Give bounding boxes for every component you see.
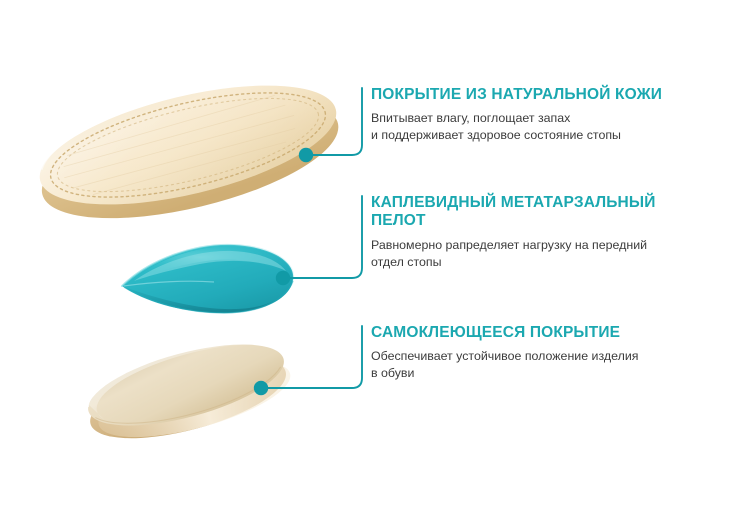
connector-dot-1: [299, 148, 313, 162]
callout-body: Обеспечивает устойчивое положение издели…: [371, 348, 701, 382]
callout-title: ПОКРЫТИЕ ИЗ НАТУРАЛЬНОЙ КОЖИ: [371, 86, 701, 104]
connector-dot-2: [276, 271, 290, 285]
connector-dot-3: [254, 381, 268, 395]
callout-self-adhesive-backing: САМОКЛЕЮЩЕЕСЯ ПОКРЫТИЕ Обеспечивает усто…: [371, 324, 701, 383]
callout-title: КАПЛЕВИДНЫЙ МЕТАТАРЗАЛЬНЫЙ ПЕЛОТ: [371, 194, 701, 231]
callout-body: Впитывает влагу, поглощает запах и подде…: [371, 110, 701, 144]
metatarsal-pad-layer: [122, 245, 293, 313]
callout-body: Равномерно рапределяет нагрузку на перед…: [371, 237, 701, 271]
connector-2: [283, 196, 362, 278]
infographic-canvas: ПОКРЫТИЕ ИЗ НАТУРАЛЬНОЙ КОЖИ Впитывает в…: [0, 0, 749, 511]
callout-teardrop-metatarsal-pad: КАПЛЕВИДНЫЙ МЕТАТАРЗАЛЬНЫЙ ПЕЛОТ Равноме…: [371, 194, 701, 271]
callout-natural-leather-cover: ПОКРЫТИЕ ИЗ НАТУРАЛЬНОЙ КОЖИ Впитывает в…: [371, 86, 701, 145]
callout-title: САМОКЛЕЮЩЕЕСЯ ПОКРЫТИЕ: [371, 324, 701, 342]
